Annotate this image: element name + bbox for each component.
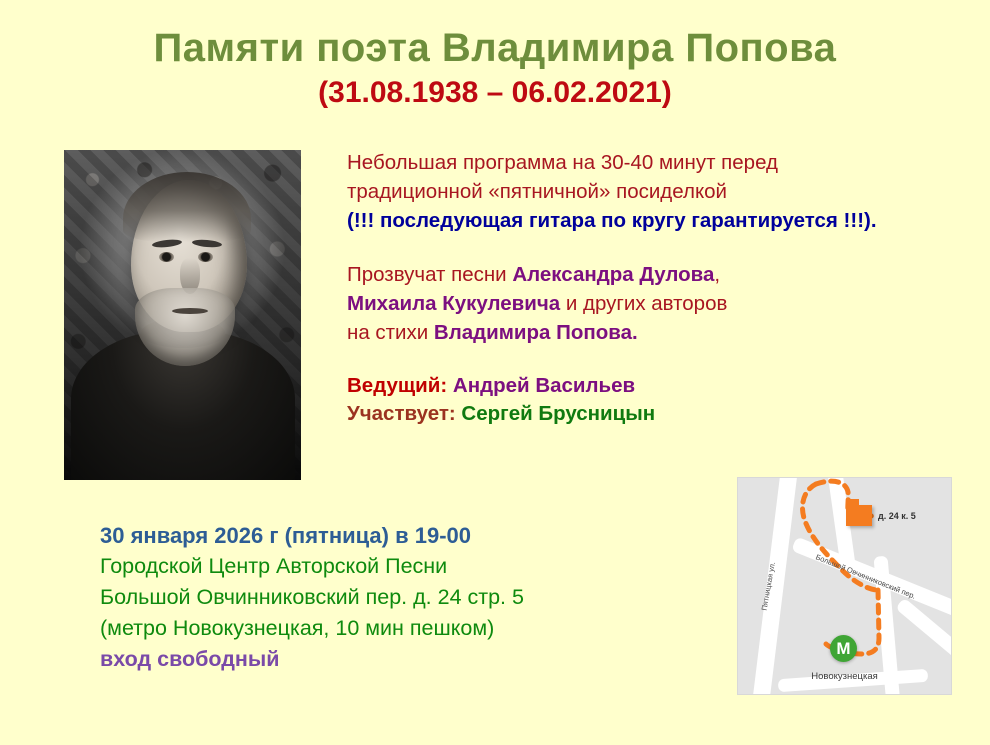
guest-line: Участвует: Сергей Брусницын xyxy=(347,400,947,428)
songs-line-1: Прозвучат песни Александра Дулова, xyxy=(347,260,947,289)
songs-line-3: на стихи Владимира Попова. xyxy=(347,318,947,347)
songs-paragraph: Прозвучат песни Александра Дулова, Михаи… xyxy=(347,260,947,347)
poet-name-popov: Владимира Попова xyxy=(434,321,632,344)
songs-line-2-suffix: и других авторов xyxy=(560,292,727,315)
map-house-label: д. 24 к. 5 xyxy=(878,511,916,521)
songs-line-1-suffix: , xyxy=(714,263,720,286)
poster-canvas: Памяти поэта Владимира Попова (31.08.193… xyxy=(0,0,990,745)
event-entry: вход свободный xyxy=(100,644,700,675)
host-name-value: Андрей Васильев xyxy=(453,374,635,397)
event-venue: Городской Центр Авторской Песни xyxy=(100,551,700,582)
title-block: Памяти поэта Владимира Попова (31.08.193… xyxy=(0,26,990,110)
guest-name-value: Сергей Брусницын xyxy=(461,402,655,425)
author-name-dulov: Александра Дулова xyxy=(512,263,714,286)
songs-line-2: Михаила Кукулевича и других авторов xyxy=(347,289,947,318)
event-date: 30 января 2026 г (пятница) в 19-00 xyxy=(100,520,700,551)
songs-line-3-prefix: на стихи xyxy=(347,321,434,344)
page-title: Памяти поэта Владимира Попова xyxy=(0,26,990,70)
event-address: Большой Овчинниковский пер. д. 24 стр. 5 xyxy=(100,582,700,613)
life-dates: (31.08.1938 – 06.02.2021) xyxy=(0,76,990,110)
author-name-kukulevich: Михаила Кукулевича xyxy=(347,292,560,315)
songs-line-3-suffix: . xyxy=(632,321,638,344)
songs-line-1-prefix: Прозвучат песни xyxy=(347,263,512,286)
map-metro-station-label: Новокузнецкая xyxy=(738,671,951,682)
portrait-eye-right xyxy=(198,252,213,262)
portrait-mouth xyxy=(172,308,208,314)
program-line-1: Небольшая программа на 30-40 минут перед xyxy=(347,148,947,177)
event-info: 30 января 2026 г (пятница) в 19-00 Город… xyxy=(100,520,700,675)
program-line-3: (!!! последующая гитара по кругу гаранти… xyxy=(347,206,947,235)
credits-paragraph: Ведущий: Андрей Васильев Участвует: Серг… xyxy=(347,372,947,428)
metro-icon: M xyxy=(830,635,857,662)
program-line-2: традиционной «пятничной» посиделкой xyxy=(347,177,947,206)
portrait-eye-left xyxy=(159,252,174,262)
guest-label: Участвует: xyxy=(347,402,456,425)
location-map[interactable]: д. 24 к. 5 Большой Овчинниковский пер. П… xyxy=(737,477,952,695)
portrait-photo xyxy=(64,150,301,480)
program-paragraph: Небольшая программа на 30-40 минут перед… xyxy=(347,148,947,235)
host-line: Ведущий: Андрей Васильев xyxy=(347,372,947,400)
host-label: Ведущий: xyxy=(347,374,447,397)
destination-building-marker xyxy=(846,505,872,526)
event-metro-note: (метро Новокузнецкая, 10 мин пешком) xyxy=(100,613,700,644)
announcement-text: Небольшая программа на 30-40 минут перед… xyxy=(347,148,947,428)
